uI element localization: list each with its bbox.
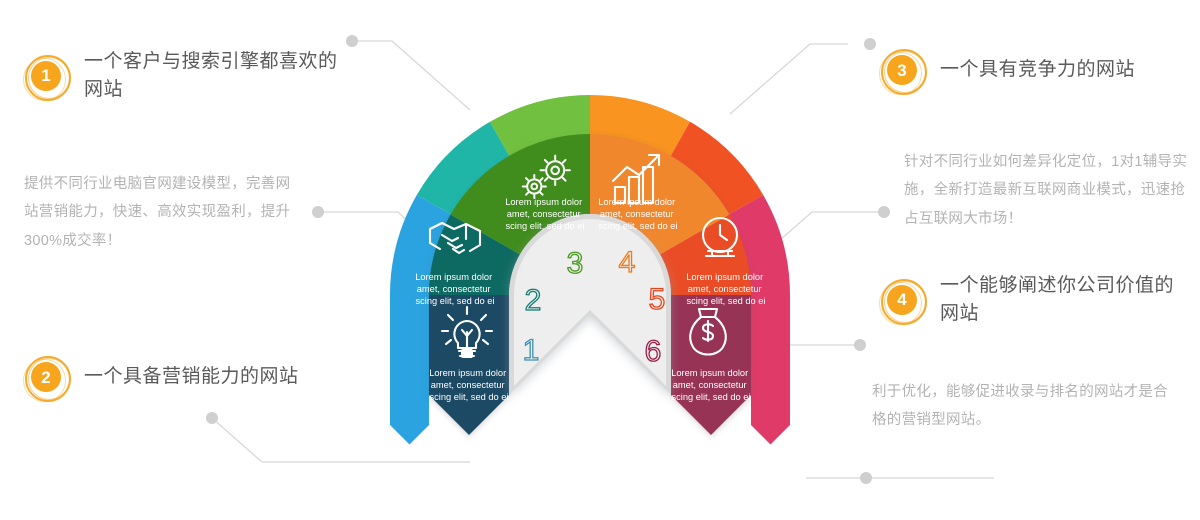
center-number-2: 2 (525, 284, 542, 317)
callout-2[interactable]: 2 一个具备营销能力的网站 (24, 355, 354, 399)
center-number-4: 4 (619, 246, 636, 279)
center-number-5: 5 (649, 283, 666, 316)
badge-1: 1 (24, 54, 68, 98)
connector-dot-4-title (854, 339, 866, 351)
callout-3-body: 针对不同行业如何差异化定位，1对1辅导实施，全新打造最新互联网商业模式，迅速抢占… (904, 148, 1194, 233)
connector-dot-4-body (860, 472, 872, 484)
center-number-3: 3 (567, 247, 584, 280)
rim-leg-right (751, 295, 790, 445)
center-number-6: 6 (645, 335, 662, 368)
segment-6-label: Lorem ipsum dolor amet, consectetur scin… (671, 368, 751, 402)
callout-3-head: 3 一个具有竞争力的网站 (880, 48, 1180, 92)
radial-wheel-chart: Lorem ipsum dolor amet, consectetur scin… (370, 95, 810, 485)
badge-2: 2 (24, 355, 68, 399)
callout-3-title: 一个具有竞争力的网站 (940, 56, 1135, 84)
badge-4: 4 (880, 278, 924, 322)
callout-4[interactable]: 4 一个能够阐述你公司价值的网站 (880, 272, 1180, 327)
callout-1-body: 提供不同行业电脑官网建设模型，完善网站营销能力，快速、高效实现盈利，提升300%… (24, 170, 304, 255)
segment-1-body (429, 295, 509, 435)
badge-1-number: 1 (31, 61, 61, 91)
connector-dot-1-title (346, 35, 358, 47)
badge-4-number: 4 (887, 285, 917, 315)
connector-dot-3-title (864, 38, 876, 50)
badge-3: 3 (880, 48, 924, 92)
rim-leg-left (390, 295, 429, 445)
callout-4-body: 利于优化，能够促进收录与排名的网站才是合格的营销型网站。 (872, 378, 1172, 435)
infographic-canvas: 1 一个客户与搜索引擎都喜欢的网站 提供不同行业电脑官网建设模型，完善网站营销能… (0, 0, 1200, 520)
callout-1[interactable]: 1 一个客户与搜索引擎都喜欢的网站 (24, 48, 354, 103)
connector-dot-3-body (878, 206, 890, 218)
badge-2-number: 2 (31, 362, 61, 392)
connector-dot-2-title (206, 412, 218, 424)
connector-dot-1-body (312, 206, 324, 218)
callout-1-head: 1 一个客户与搜索引擎都喜欢的网站 (24, 48, 354, 103)
segment-4-label: Lorem ipsum dolor amet, consectetur scin… (598, 197, 678, 231)
callout-2-title: 一个具备营销能力的网站 (84, 363, 299, 391)
segment-5-label: Lorem ipsum dolor amet, consectetur scin… (686, 272, 766, 306)
callout-2-head: 2 一个具备营销能力的网站 (24, 355, 354, 399)
center-number-1: 1 (523, 334, 540, 367)
segment-1-label: Lorem ipsum dolor amet, consectetur scin… (429, 368, 509, 402)
callout-4-title: 一个能够阐述你公司价值的网站 (940, 272, 1180, 327)
callout-1-title: 一个客户与搜索引擎都喜欢的网站 (84, 48, 354, 103)
callout-4-head: 4 一个能够阐述你公司价值的网站 (880, 272, 1180, 327)
callout-3[interactable]: 3 一个具有竞争力的网站 (880, 48, 1180, 92)
segment-3-label: Lorem ipsum dolor amet, consectetur scin… (505, 197, 585, 231)
segment-2-label: Lorem ipsum dolor amet, consectetur scin… (415, 272, 495, 306)
badge-3-number: 3 (887, 55, 917, 85)
